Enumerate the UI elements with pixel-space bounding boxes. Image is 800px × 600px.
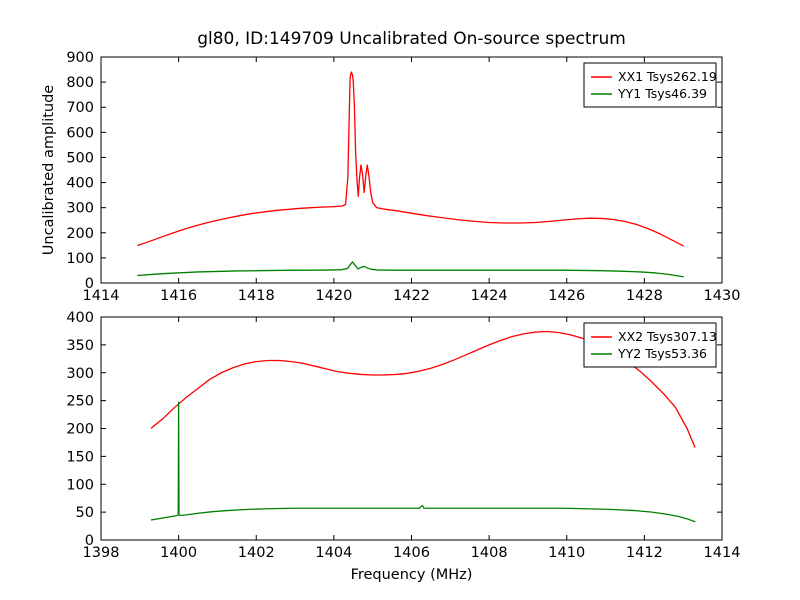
y-tick-label: 400	[66, 176, 94, 192]
y-tick-label: 400	[66, 310, 94, 326]
y-tick-label: 500	[66, 150, 94, 166]
legend-top: XX1 Tsys262.19YY1 Tsys46.39	[584, 63, 717, 107]
x-axis-label: Frequency (MHz)	[351, 567, 473, 583]
x-tick-label: 1428	[626, 288, 663, 304]
x-tick-label: 1412	[626, 545, 663, 561]
panel-title: gl80, ID:149709 Uncalibrated On-source s…	[197, 29, 626, 49]
x-tick-label: 1418	[238, 288, 275, 304]
y-tick-label: 350	[66, 338, 94, 354]
y-axis-label: Uncalibrated amplitude	[41, 85, 57, 256]
legend-label: XX1 Tsys262.19	[618, 69, 717, 84]
y-tick-label: 800	[66, 75, 94, 91]
y-tick-label: 50	[76, 505, 94, 521]
series-line-yy1	[138, 262, 683, 277]
x-tick-label: 1404	[315, 545, 352, 561]
y-tick-label: 150	[66, 449, 94, 465]
x-tick-label: 1414	[704, 545, 741, 561]
legend-label: XX2 Tsys307.13	[618, 329, 717, 344]
panel-top: 1414141614181420142214241426142814300100…	[41, 29, 740, 304]
y-tick-label: 200	[66, 226, 94, 242]
legend-bottom: XX2 Tsys307.13YY2 Tsys53.36	[584, 323, 717, 367]
x-tick-label: 1400	[160, 545, 197, 561]
x-tick-label: 1410	[548, 545, 585, 561]
panel-bottom: 1398140014021404140614081410141214140501…	[66, 310, 740, 583]
y-tick-label: 100	[66, 251, 94, 267]
y-tick-label: 100	[66, 477, 94, 493]
x-tick-label: 1406	[393, 545, 430, 561]
y-tick-label: 250	[66, 394, 94, 410]
x-tick-label: 1422	[393, 288, 430, 304]
x-tick-label: 1420	[315, 288, 352, 304]
x-tick-label: 1402	[238, 545, 275, 561]
x-tick-label: 1416	[160, 288, 197, 304]
x-tick-label: 1408	[471, 545, 508, 561]
x-tick-label: 1424	[471, 288, 508, 304]
y-tick-label: 0	[85, 276, 94, 292]
y-tick-label: 600	[66, 125, 94, 141]
y-tick-label: 900	[66, 50, 94, 66]
y-tick-label: 300	[66, 366, 94, 382]
x-tick-label: 1426	[548, 288, 585, 304]
plot-canvas: 1414141614181420142214241426142814300100…	[0, 0, 800, 600]
series-line-yy2	[151, 402, 694, 521]
y-tick-label: 300	[66, 201, 94, 217]
y-tick-label: 0	[85, 533, 94, 549]
y-tick-label: 200	[66, 422, 94, 438]
y-tick-label: 700	[66, 100, 94, 116]
x-tick-label: 1430	[704, 288, 741, 304]
legend-label: YY1 Tsys46.39	[617, 86, 707, 101]
matplotlib-figure: 1414141614181420142214241426142814300100…	[0, 0, 800, 600]
legend-label: YY2 Tsys53.36	[617, 346, 707, 361]
